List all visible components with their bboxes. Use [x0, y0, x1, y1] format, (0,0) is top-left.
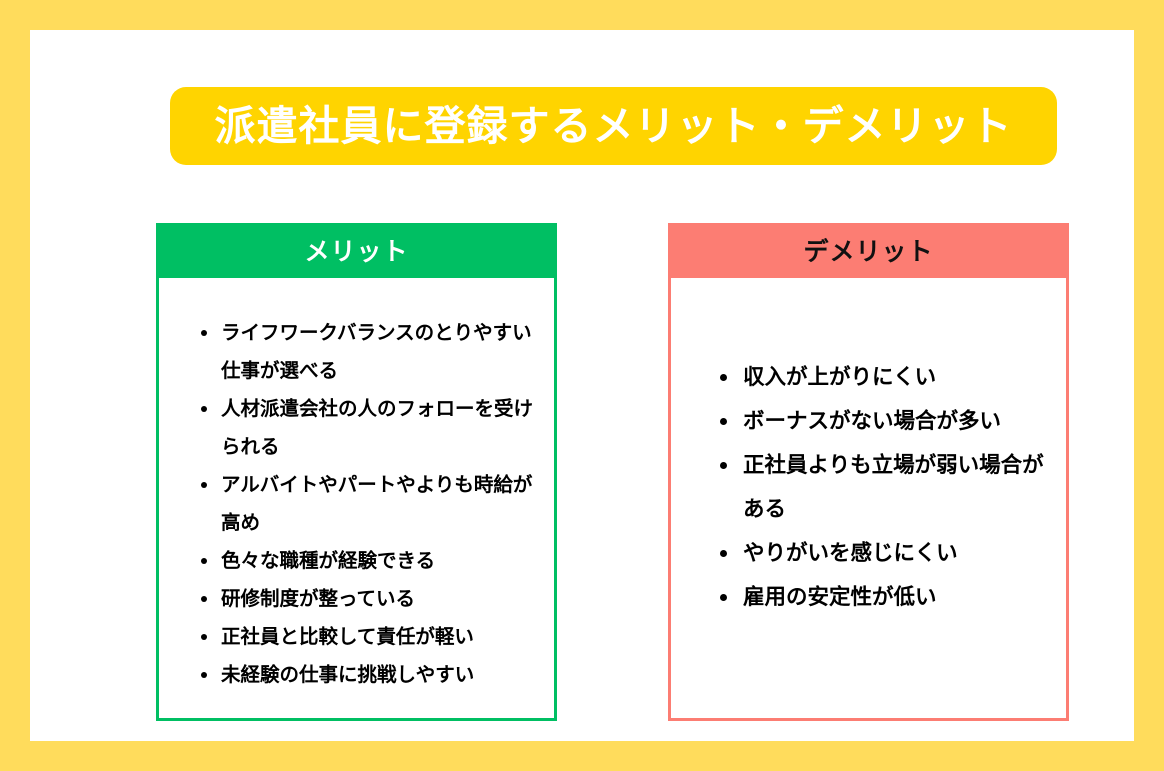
poster-frame: 派遣社員に登録するメリット・デメリット メリット ライフワークバランスのとりやす…: [0, 0, 1164, 771]
demerit-column-body: 収入が上がりにくい ボーナスがない場合が多い 正社員よりも立場が弱い場合がある …: [671, 278, 1066, 718]
merit-column-header-label: メリット: [304, 240, 408, 265]
page-title: 派遣社員に登録するメリット・デメリット: [215, 106, 1013, 147]
merit-column-header: メリット: [159, 226, 554, 278]
list-item: 雇用の安定性が低い: [743, 575, 1052, 619]
poster-canvas: 派遣社員に登録するメリット・デメリット メリット ライフワークバランスのとりやす…: [30, 30, 1134, 741]
list-item: ライフワークバランスのとりやすい仕事が選べる: [221, 314, 540, 390]
demerit-column-header: デメリット: [671, 226, 1066, 278]
demerit-item-list: 収入が上がりにくい ボーナスがない場合が多い 正社員よりも立場が弱い場合がある …: [671, 355, 1066, 619]
merit-column-body: ライフワークバランスのとりやすい仕事が選べる 人材派遣会社の人のフォローを受けら…: [159, 278, 554, 718]
merit-item-list: ライフワークバランスのとりやすい仕事が選べる 人材派遣会社の人のフォローを受けら…: [159, 314, 554, 694]
list-item: 収入が上がりにくい: [743, 355, 1052, 399]
list-item: 人材派遣会社の人のフォローを受けられる: [221, 390, 540, 466]
list-item: 色々な職種が経験できる: [221, 542, 540, 580]
list-item: 正社員よりも立場が弱い場合がある: [743, 443, 1052, 531]
list-item: 未経験の仕事に挑戦しやすい: [221, 656, 540, 694]
demerit-column: デメリット 収入が上がりにくい ボーナスがない場合が多い 正社員よりも立場が弱い…: [668, 223, 1069, 721]
merit-column: メリット ライフワークバランスのとりやすい仕事が選べる 人材派遣会社の人のフォロ…: [156, 223, 557, 721]
list-item: アルバイトやパートやよりも時給が高め: [221, 466, 540, 542]
list-item: やりがいを感じにくい: [743, 531, 1052, 575]
list-item: 研修制度が整っている: [221, 580, 540, 618]
demerit-column-header-label: デメリット: [803, 240, 933, 265]
list-item: 正社員と比較して責任が軽い: [221, 618, 540, 656]
title-banner: 派遣社員に登録するメリット・デメリット: [170, 87, 1057, 165]
list-item: ボーナスがない場合が多い: [743, 399, 1052, 443]
